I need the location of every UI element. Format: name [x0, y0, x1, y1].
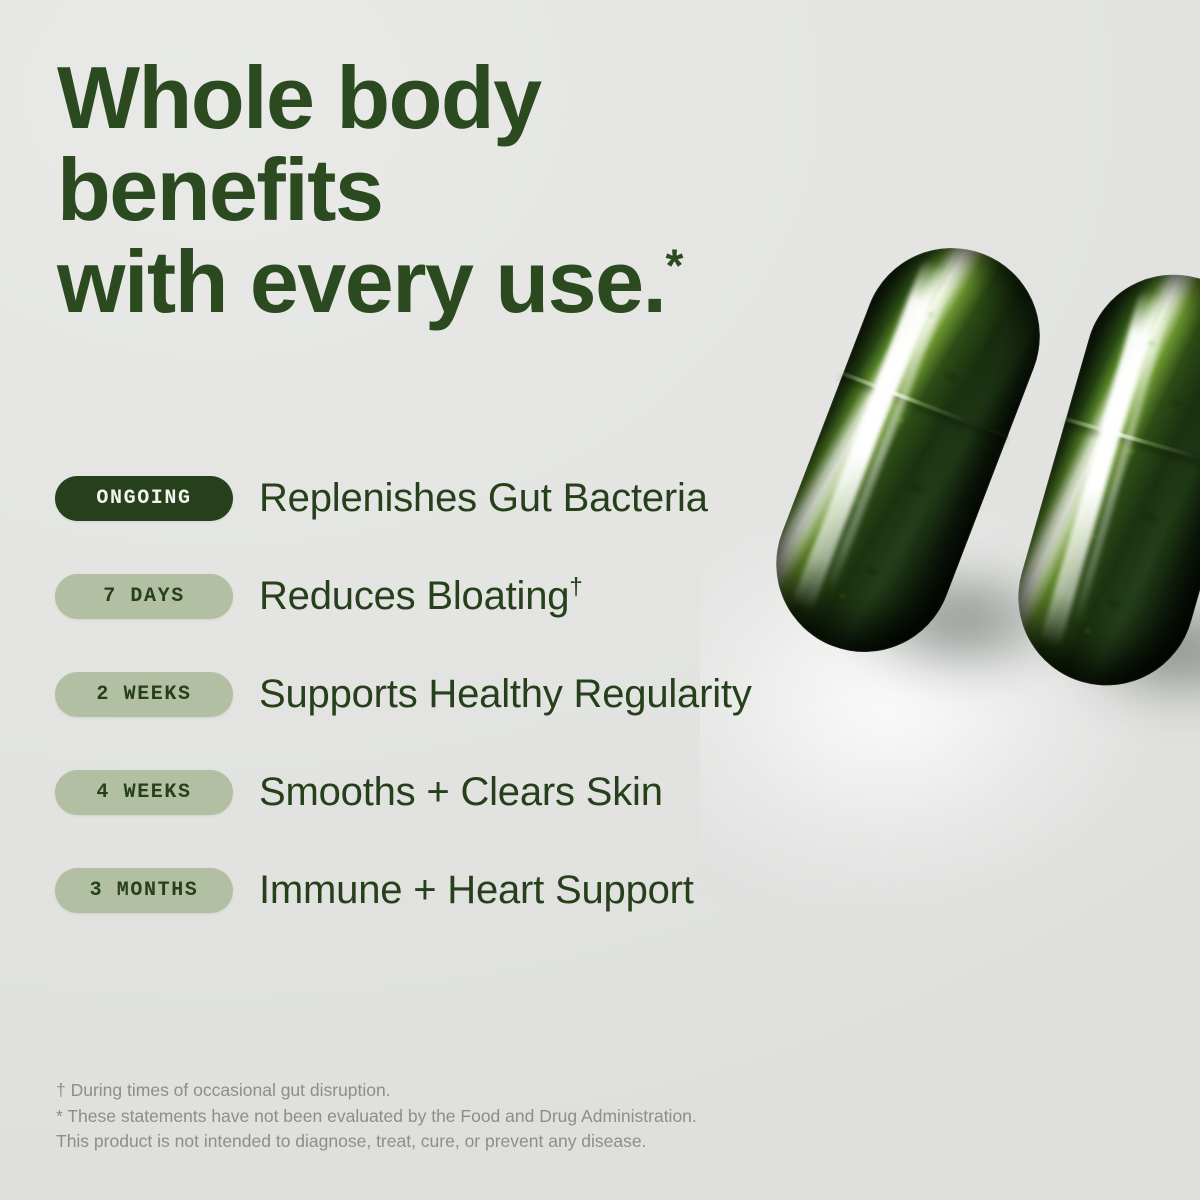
timeline-badge-3-months: 3 MONTHS [55, 868, 233, 913]
capsule-2-texture [998, 254, 1200, 706]
headline-line-2: with every use. [57, 232, 665, 331]
capsule-2-body [998, 254, 1200, 706]
capsule-2-highlight [1039, 289, 1161, 649]
benefit-label: Immune + Heart Support [259, 867, 694, 913]
benefit-row: ONGOING Replenishes Gut Bacteria [55, 473, 875, 523]
benefit-row: 2 WEEKS Supports Healthy Regularity [55, 669, 875, 719]
capsule-2-seam [1065, 417, 1200, 469]
capsule-2-seam-shadow [1063, 420, 1200, 478]
capsule-shadow-2 [1030, 575, 1200, 725]
benefit-label-text: Supports Healthy Regularity [259, 672, 752, 716]
benefit-label: Reduces Bloating† [259, 573, 583, 619]
capsule-1-seam [842, 372, 1008, 439]
footnote-dagger-line: † During times of occasional gut disrupt… [56, 1078, 816, 1104]
asterisk-footnote-marker: * [665, 240, 683, 292]
product-benefits-panel: Whole body benefits with every use.* ONG… [0, 0, 1200, 1200]
capsule-1-seam-shadow [839, 375, 1007, 447]
timeline-badge-ongoing: ONGOING [55, 476, 233, 521]
capsule-2-rim [998, 254, 1200, 706]
footnote-disclaimer-line: This product is not intended to diagnose… [56, 1129, 816, 1155]
benefit-label: Smooths + Clears Skin [259, 769, 663, 815]
benefit-row: 4 WEEKS Smooths + Clears Skin [55, 767, 875, 817]
benefit-label-text: Reduces Bloating [259, 574, 569, 618]
benefit-label-text: Replenishes Gut Bacteria [259, 476, 708, 520]
benefit-label-text: Smooths + Clears Skin [259, 770, 663, 814]
footnote-fda-line: * These statements have not been evaluat… [56, 1104, 816, 1130]
timeline-badge-2-weeks: 2 WEEKS [55, 672, 233, 717]
capsule-2-highlight-secondary [1073, 313, 1169, 623]
benefit-label-text: Immune + Heart Support [259, 868, 694, 912]
benefit-label: Supports Healthy Regularity [259, 671, 752, 717]
benefits-list: ONGOING Replenishes Gut Bacteria 7 DAYS … [55, 473, 875, 915]
benefit-label: Replenishes Gut Bacteria [259, 475, 708, 521]
headline-line-1: Whole body benefits [57, 48, 541, 239]
benefit-row: 3 MONTHS Immune + Heart Support [55, 865, 875, 915]
capsule-2 [998, 254, 1200, 706]
benefit-row: 7 DAYS Reduces Bloating† [55, 571, 875, 621]
timeline-badge-7-days: 7 DAYS [55, 574, 233, 619]
benefit-dagger: † [569, 574, 582, 601]
timeline-badge-4-weeks: 4 WEEKS [55, 770, 233, 815]
page-title: Whole body benefits with every use.* [57, 52, 857, 328]
footnotes: † During times of occasional gut disrupt… [56, 1078, 816, 1155]
